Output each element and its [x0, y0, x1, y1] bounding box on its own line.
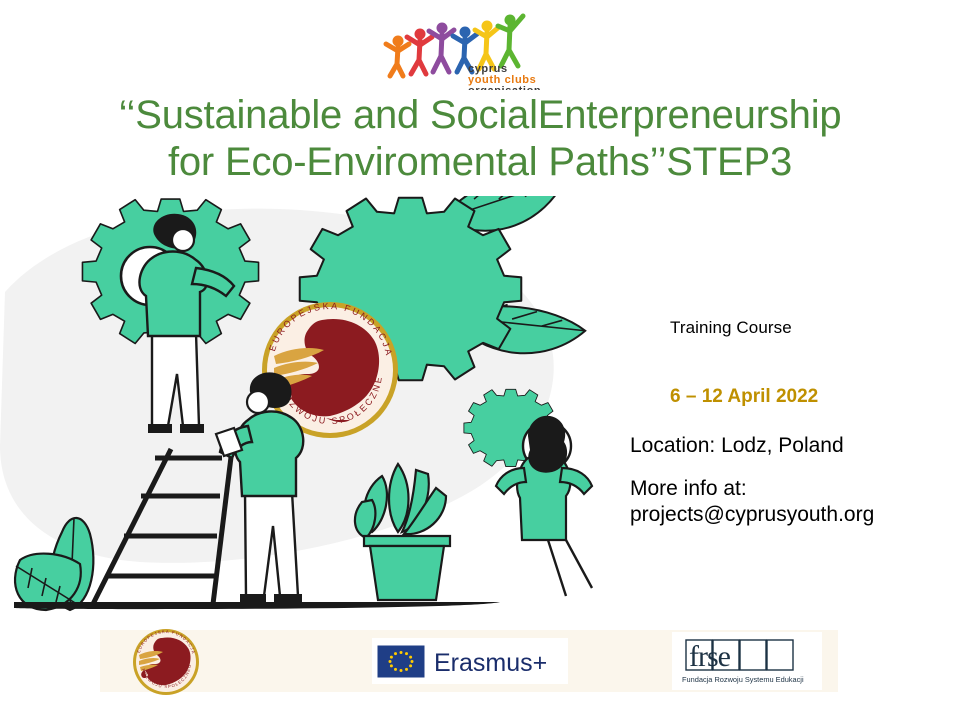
europejska-fundacja-rozwoju-spolecznego-logo: EUROPEJSKA FUNDACJA ROZWOJU SPOŁECZNEGO — [114, 626, 218, 696]
person-phone-legs — [245, 492, 298, 596]
cyprus-youth-clubs-logo: cyprus youth clubs organisation — [368, 6, 592, 90]
event-info-block: Training Course 6 – 12 April 2022 Locati… — [630, 318, 950, 529]
erasmus-plus-label: Erasmus+ — [434, 649, 547, 677]
pot-rim — [364, 536, 450, 546]
erasmus-plus-logo: Erasmus+ — [372, 638, 568, 684]
figure-yellow — [475, 21, 499, 70]
event-contact: More info at: projects@cyprusyouth.org — [630, 476, 950, 529]
event-type-label: Training Course — [670, 318, 950, 338]
logo-line-organisation: organisation — [468, 85, 541, 90]
pot-body — [370, 546, 444, 600]
figure-orange — [386, 36, 409, 77]
event-location: Location: Lodz, Poland — [630, 434, 950, 458]
person-ladder-body — [139, 252, 207, 337]
person-ladder-face — [172, 229, 194, 251]
ground-line — [14, 602, 500, 609]
person-gear-leg — [548, 540, 592, 596]
figure-red — [407, 29, 432, 75]
figure-green — [498, 15, 523, 67]
presentation-slide: cyprus youth clubs organisation ‘‘Sustai… — [0, 0, 960, 720]
frse-subtitle: Fundacja Rozwoju Systemu Edukacji — [682, 675, 804, 684]
hero-illustration: EUROPEJSKA FUNDACJA ROZWOJU SPOŁECZNEGO — [0, 196, 660, 620]
person-gear-head — [528, 416, 567, 473]
person-phone-body — [235, 411, 303, 496]
event-dates: 6 – 12 April 2022 — [670, 386, 950, 408]
figure-purple — [429, 23, 454, 73]
frse-wordmark: frse — [689, 640, 731, 673]
page-title: ‘‘Sustainable and SocialEnterpreneurship… — [40, 92, 920, 186]
frse-logo: frse Fundacja Rozwoju Systemu Edukacji — [672, 632, 822, 690]
eu-flag — [378, 646, 424, 677]
person-phone-face — [247, 391, 269, 413]
footer-logo-bar: EUROPEJSKA FUNDACJA ROZWOJU SPOŁECZNEGO — [100, 630, 838, 692]
